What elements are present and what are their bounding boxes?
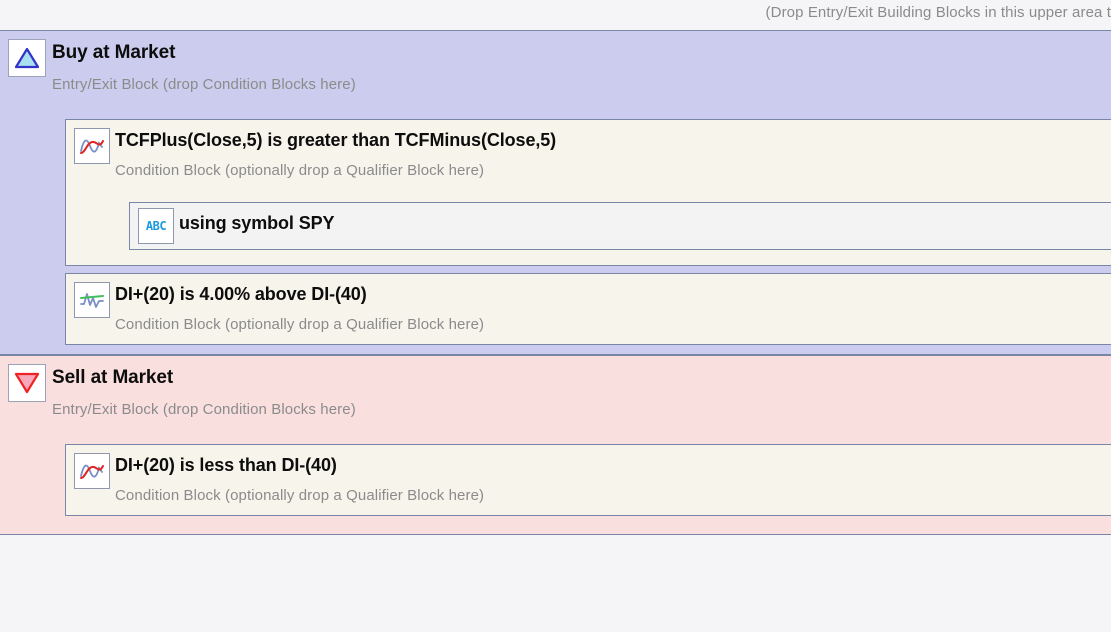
block-title: Sell at Market — [52, 367, 173, 389]
condition-block[interactable]: DI+(20) is 4.00% above DI-(40) Condition… — [65, 273, 1111, 345]
block-header: Buy at Market Entry/Exit Block (drop Con… — [0, 31, 1111, 89]
condition-subtitle: Condition Block (optionally drop a Quali… — [115, 316, 484, 333]
crossing-curves-icon — [74, 453, 110, 489]
condition-title: DI+(20) is 4.00% above DI-(40) — [115, 284, 367, 305]
condition-list[interactable]: DI+(20) is less than DI-(40) Condition B… — [65, 444, 1111, 523]
condition-subtitle: Condition Block (optionally drop a Quali… — [115, 162, 484, 179]
block-header: Sell at Market Entry/Exit Block (drop Co… — [0, 356, 1111, 414]
condition-block[interactable]: TCFPlus(Close,5) is greater than TCFMinu… — [65, 119, 1111, 266]
drop-area-hint-text: (Drop Entry/Exit Building Blocks in this… — [766, 4, 1111, 21]
entry-exit-block-buy-at-market[interactable]: Buy at Market Entry/Exit Block (drop Con… — [0, 30, 1111, 355]
condition-title: TCFPlus(Close,5) is greater than TCFMinu… — [115, 130, 556, 151]
condition-list[interactable]: TCFPlus(Close,5) is greater than TCFMinu… — [65, 119, 1111, 352]
abc-icon-label: ABC — [146, 219, 166, 233]
down-triangle-icon — [8, 364, 46, 402]
abc-icon: ABC — [138, 208, 174, 244]
block-subtitle: Entry/Exit Block (drop Condition Blocks … — [52, 76, 356, 93]
up-triangle-icon — [8, 39, 46, 77]
canvas-top-hint-strip: (Drop Entry/Exit Building Blocks in this… — [0, 0, 1111, 30]
strategy-canvas[interactable]: Buy at Market Entry/Exit Block (drop Con… — [0, 30, 1111, 632]
block-subtitle: Entry/Exit Block (drop Condition Blocks … — [52, 401, 356, 418]
condition-subtitle: Condition Block (optionally drop a Quali… — [115, 487, 484, 504]
condition-block[interactable]: DI+(20) is less than DI-(40) Condition B… — [65, 444, 1111, 516]
entry-exit-block-sell-at-market[interactable]: Sell at Market Entry/Exit Block (drop Co… — [0, 355, 1111, 535]
crossing-curves-icon — [74, 128, 110, 164]
qualifier-title: using symbol SPY — [179, 213, 334, 234]
condition-title: DI+(20) is less than DI-(40) — [115, 455, 337, 476]
qualifier-block[interactable]: ABC using symbol SPY — [129, 202, 1111, 250]
block-title: Buy at Market — [52, 42, 175, 64]
wave-with-line-icon — [74, 282, 110, 318]
